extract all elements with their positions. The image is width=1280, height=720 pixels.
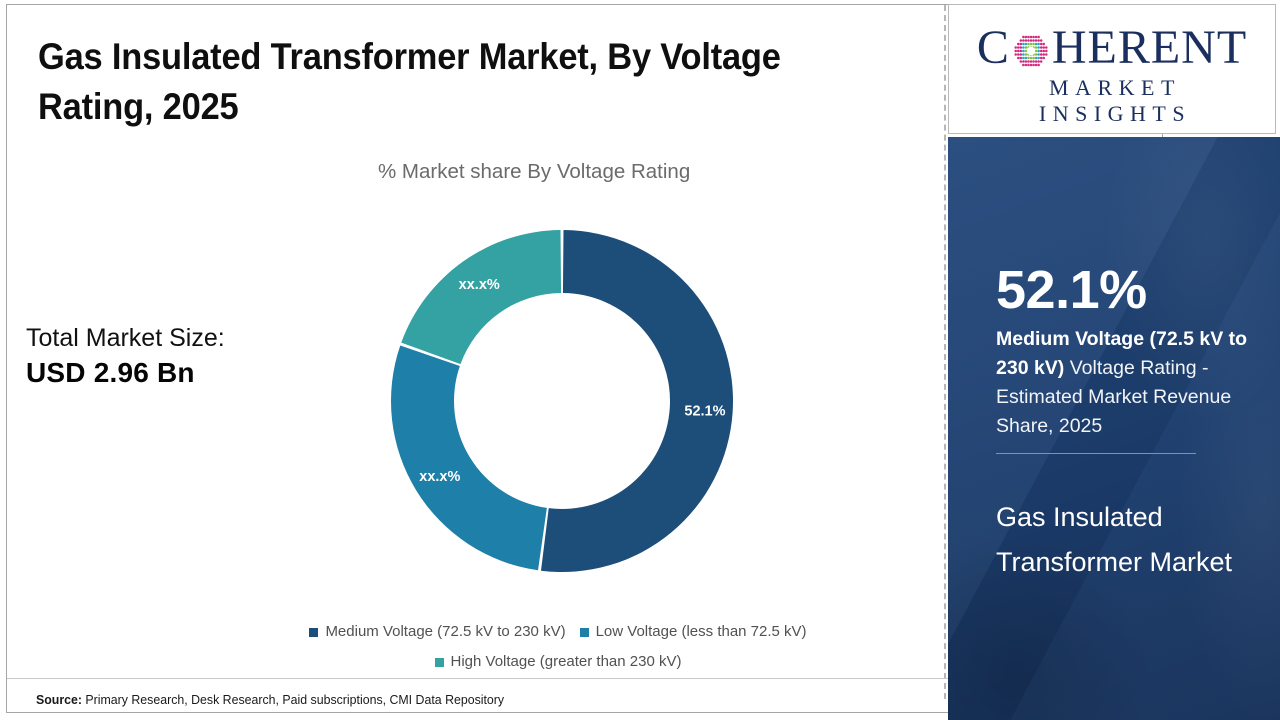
highlight-panel: 52.1% Medium Voltage (72.5 kV to 230 kV)…: [948, 137, 1280, 720]
donut-slice-label: xx.x%: [459, 277, 500, 293]
donut-slice-label: xx.x%: [419, 469, 460, 485]
legend-label-0: Medium Voltage (72.5 kV to 230 kV): [325, 617, 565, 647]
legend-item-high-voltage[interactable]: High Voltage (greater than 230 kV): [435, 647, 682, 677]
panel-market-name: Gas Insulated Transformer Market: [996, 495, 1258, 585]
legend-label-1: Low Voltage (less than 72.5 kV): [596, 617, 807, 647]
brand-letter-c: C: [977, 23, 1010, 73]
legend-swatch-icon-1: [580, 628, 589, 637]
total-market-size-block: Total Market Size: USD 2.96 Bn: [26, 322, 326, 392]
legend-swatch-icon-2: [435, 658, 444, 667]
brand-wordmark: C HERENT: [962, 23, 1262, 73]
infographic-root: Gas Insulated Transformer Market, By Vol…: [0, 0, 1280, 720]
donut-chart: 52.1%xx.x%xx.x%: [375, 214, 749, 588]
panel-stat-description: Medium Voltage (72.5 kV to 230 kV) Volta…: [996, 325, 1264, 441]
brand-letters-herent: HERENT: [1052, 23, 1247, 73]
chart-legend: Medium Voltage (72.5 kV to 230 kV) Low V…: [258, 617, 858, 677]
chart-subtitle: % Market share By Voltage Rating: [378, 160, 690, 184]
vertical-dashed-divider: [944, 5, 946, 699]
legend-swatch-icon-0: [309, 628, 318, 637]
legend-row-2: High Voltage (greater than 230 kV): [258, 647, 858, 677]
page-title: Gas Insulated Transformer Market, By Vol…: [38, 32, 856, 132]
brand-logo-inner: C HERENT MARKET INSIGHTS: [962, 23, 1262, 127]
source-note: Source: Primary Research, Desk Research,…: [36, 692, 504, 707]
source-text: Primary Research, Desk Research, Paid su…: [82, 692, 504, 707]
total-market-size-label: Total Market Size:: [26, 322, 326, 354]
panel-stat-value: 52.1%: [996, 262, 1147, 318]
legend-row-1: Medium Voltage (72.5 kV to 230 kV) Low V…: [258, 617, 858, 647]
legend-item-medium-voltage[interactable]: Medium Voltage (72.5 kV to 230 kV): [309, 617, 565, 647]
brand-tagline: MARKET INSIGHTS: [962, 75, 1262, 127]
brand-logo[interactable]: C HERENT MARKET INSIGHTS: [948, 4, 1276, 134]
donut-slice[interactable]: [401, 230, 561, 364]
legend-label-2: High Voltage (greater than 230 kV): [451, 647, 682, 677]
donut-slice[interactable]: [541, 230, 733, 572]
donut-slice[interactable]: [391, 345, 547, 570]
source-prefix: Source:: [36, 692, 82, 707]
legend-item-low-voltage[interactable]: Low Voltage (less than 72.5 kV): [580, 617, 807, 647]
panel-divider-rule: [996, 453, 1196, 454]
donut-slice-label: 52.1%: [684, 403, 725, 419]
donut-chart-svg: 52.1%xx.x%xx.x%: [375, 214, 749, 588]
dotted-globe-icon: [1011, 31, 1051, 71]
total-market-size-value: USD 2.96 Bn: [26, 354, 326, 392]
donut-slices: [391, 230, 733, 572]
